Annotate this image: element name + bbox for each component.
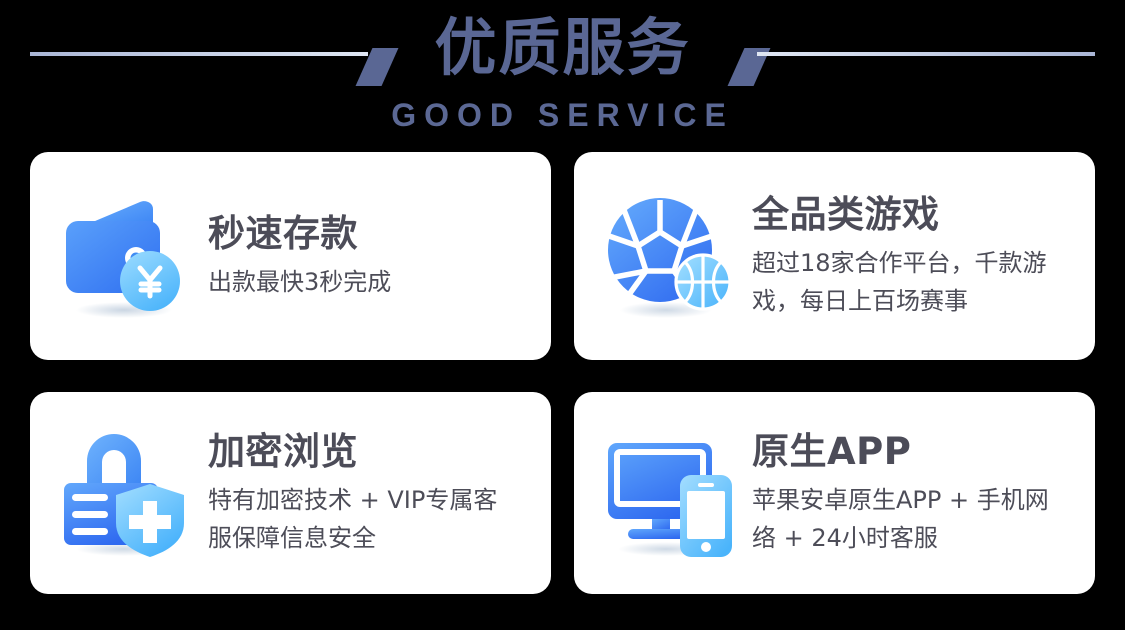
card-title: 原生APP: [752, 429, 1052, 475]
card-description: 超过18家合作平台，千款游戏，每日上百场赛事: [752, 244, 1082, 320]
card-text-block: 全品类游戏 超过18家合作平台，千款游戏，每日上百场赛事: [752, 192, 1082, 320]
card-description: 苹果安卓原生APP + 手机网络 + 24小时客服: [752, 481, 1052, 557]
card-text-block: 加密浏览 特有加密技术 + VIP专属客服保障信息安全: [208, 429, 508, 557]
card-text-block: 秒速存款 出款最快3秒完成: [208, 211, 391, 301]
card-title: 秒速存款: [208, 211, 391, 257]
service-card-deposit[interactable]: 秒速存款 出款最快3秒完成: [30, 152, 551, 360]
service-card-grid: 秒速存款 出款最快3秒完成: [30, 152, 1095, 594]
header-rule-right: [757, 52, 1095, 56]
page-header: 优质服务 GOOD SERVICE: [0, 0, 1125, 140]
service-card-native-app[interactable]: 原生APP 苹果安卓原生APP + 手机网络 + 24小时客服: [574, 392, 1095, 594]
card-description: 特有加密技术 + VIP专属客服保障信息安全: [208, 481, 508, 557]
monitor-phone-icon: [602, 425, 738, 561]
card-description: 出款最快3秒完成: [208, 263, 391, 301]
soccer-basketball-icon: [602, 188, 738, 324]
service-card-games[interactable]: 全品类游戏 超过18家合作平台，千款游戏，每日上百场赛事: [574, 152, 1095, 360]
card-title: 全品类游戏: [752, 192, 1082, 238]
lock-shield-icon: [58, 425, 194, 561]
page-title: 优质服务: [0, 8, 1125, 88]
card-text-block: 原生APP 苹果安卓原生APP + 手机网络 + 24小时客服: [752, 429, 1052, 557]
service-card-encryption[interactable]: 加密浏览 特有加密技术 + VIP专属客服保障信息安全: [30, 392, 551, 594]
card-title: 加密浏览: [208, 429, 508, 475]
page-subtitle: GOOD SERVICE: [0, 96, 1125, 134]
wallet-yen-icon: [58, 188, 194, 324]
